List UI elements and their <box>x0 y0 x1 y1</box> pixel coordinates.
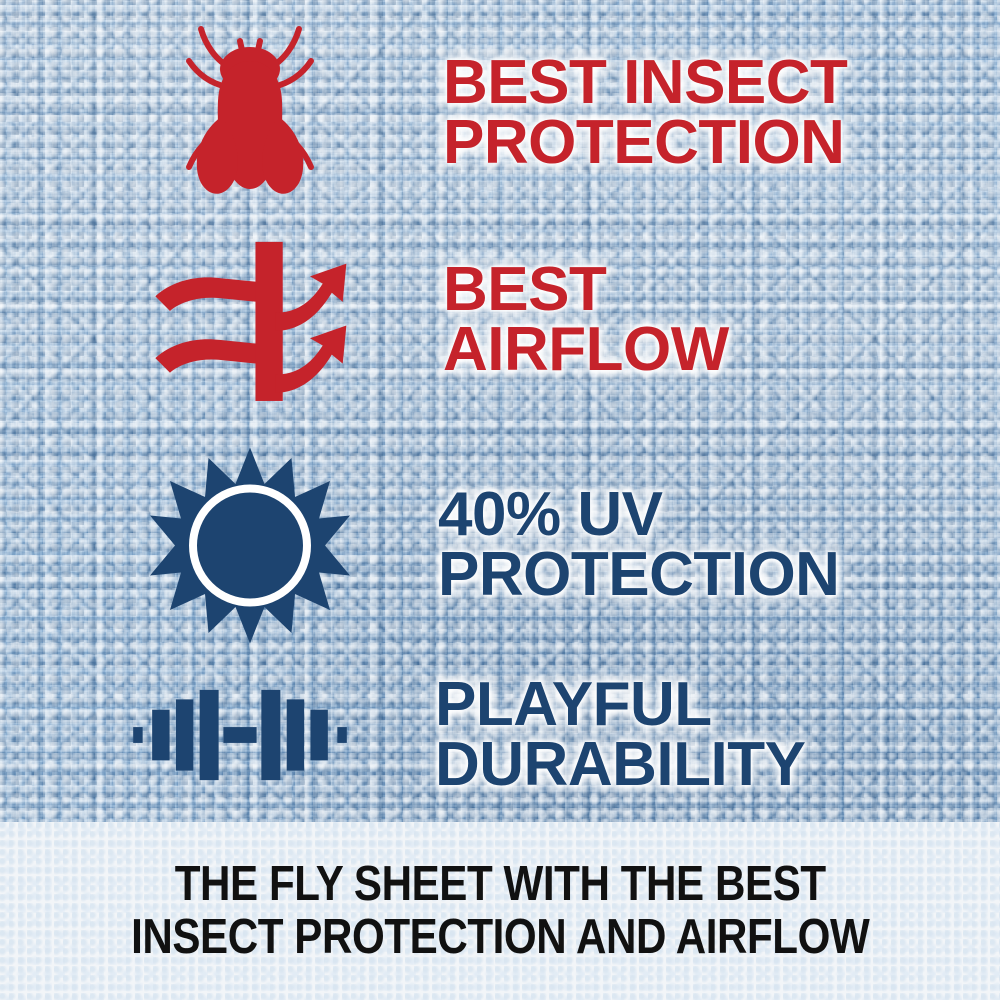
feature-label-airflow: BEST AIRFLOW <box>443 260 970 380</box>
dumbbell-plate-r3 <box>287 699 304 770</box>
fly-icon <box>175 21 325 206</box>
airflow-icon <box>150 228 350 413</box>
dumbbell-icon <box>130 670 350 800</box>
feature-row-uv-protection: 40% UV PROTECTION <box>150 440 970 650</box>
airflow-arrow-bottom <box>275 325 346 392</box>
dumbbell-icon-container <box>130 660 350 810</box>
airflow-stream-left-bottom <box>155 339 257 373</box>
dumbbell-plate-l1 <box>133 727 142 743</box>
feature-text-insect-protection: BEST INSECT PROTECTION <box>350 53 970 173</box>
feature-label-insect-protection: BEST INSECT PROTECTION <box>443 53 970 173</box>
feature-label-durability: PLAYFUL DURABILITY <box>435 675 970 795</box>
feature-row-airflow: BEST AIRFLOW <box>150 225 970 415</box>
dumbbell-plate-r4 <box>261 690 280 780</box>
feature-row-durability: PLAYFUL DURABILITY <box>130 660 970 810</box>
feature-row-insect-protection: BEST INSECT PROTECTION <box>150 18 970 208</box>
sun-icon-container <box>150 440 350 650</box>
feature-text-durability: PLAYFUL DURABILITY <box>350 675 970 795</box>
airflow-arrow-top <box>275 263 346 330</box>
dumbbell-plate-r2 <box>310 710 327 761</box>
feature-text-airflow: BEST AIRFLOW <box>350 260 970 380</box>
airflow-stream-left-top <box>155 277 257 311</box>
sun-icon <box>150 443 350 648</box>
dumbbell-plate-l4 <box>200 690 219 780</box>
feature-text-uv-protection: 40% UV PROTECTION <box>350 485 970 605</box>
dumbbell-plate-r1 <box>337 727 346 743</box>
dumbbell-bar <box>223 727 256 743</box>
fly-icon-container <box>150 18 350 208</box>
airflow-icon-container <box>150 225 350 415</box>
dumbbell-plate-l2 <box>152 710 169 761</box>
dumbbell-plate-l3 <box>176 699 193 770</box>
sun-rays <box>150 447 350 643</box>
feature-label-uv-protection: 40% UV PROTECTION <box>438 485 970 605</box>
caption-text: THE FLY SHEET WITH THE BEST INSECT PROTE… <box>131 858 869 964</box>
product-feature-poster: BEST INSECT PROTECTION BEST AIRFLOW <box>0 0 1000 1000</box>
caption-band: THE FLY SHEET WITH THE BEST INSECT PROTE… <box>0 822 1000 1000</box>
